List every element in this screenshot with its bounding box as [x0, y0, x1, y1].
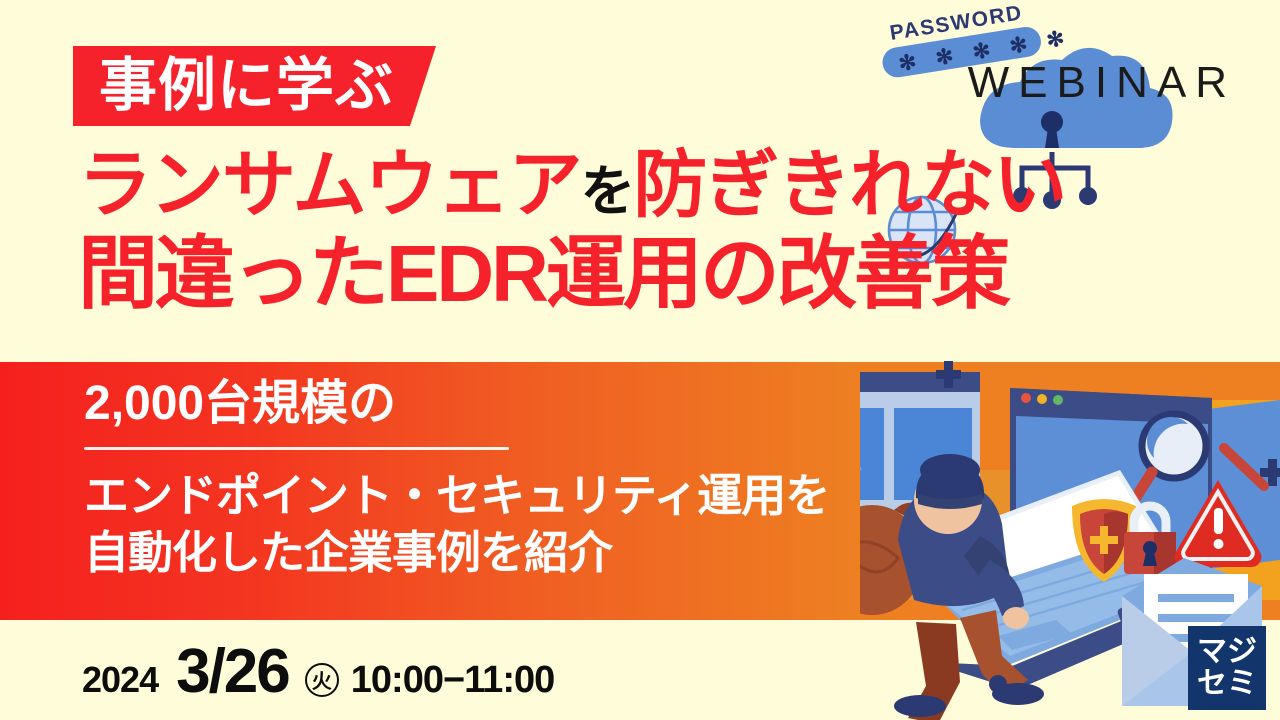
band-divider [84, 447, 509, 450]
schedule-time: 10:00−11:00 [351, 659, 554, 702]
webinar-banner: PASSWORD ✻ ✻ ✻ ✻ ✻ [0, 0, 1280, 720]
main-headline: ランサムウェアを防ぎきれない 間違ったEDR運用の改善策 [78, 148, 1065, 314]
logo-line-2: セミ [1197, 668, 1257, 700]
webinar-kicker: WEBINAR [968, 58, 1236, 108]
category-tag: 事例に学ぶ [73, 46, 436, 126]
schedule: 2024 3/26 火 10:00−11:00 [82, 636, 554, 707]
schedule-year: 2024 [82, 659, 158, 701]
majisemi-logo[interactable]: マジ セミ [1188, 626, 1266, 710]
schedule-date: 3/26 [176, 636, 289, 707]
headline-particle-wo: を [581, 160, 634, 222]
band-line-1: エンドポイント・セキュリティ運用を [84, 468, 829, 525]
band-lead: 2,000台規模の [84, 380, 829, 428]
schedule-weekday-badge: 火 [305, 663, 339, 697]
security-illustration: PASSWORD ✻ ✻ ✻ ✻ ✻ [820, 0, 1280, 720]
headline-segment-ransomware: ランサムウェア [78, 143, 581, 226]
headline-segment-cannot-prevent: 防ぎきれない [633, 143, 1065, 226]
category-tag-label: 事例に学ぶ [99, 57, 394, 115]
band-line-2: 自動化した企業事例を紹介 [84, 525, 829, 582]
headline-line-1: ランサムウェアを防ぎきれない [78, 148, 1065, 222]
headline-line-2: 間違ったEDR運用の改善策 [78, 234, 1065, 314]
band-content: 2,000台規模の エンドポイント・セキュリティ運用を 自動化した企業事例を紹介 [84, 380, 829, 581]
logo-line-1: マジ [1197, 636, 1257, 668]
